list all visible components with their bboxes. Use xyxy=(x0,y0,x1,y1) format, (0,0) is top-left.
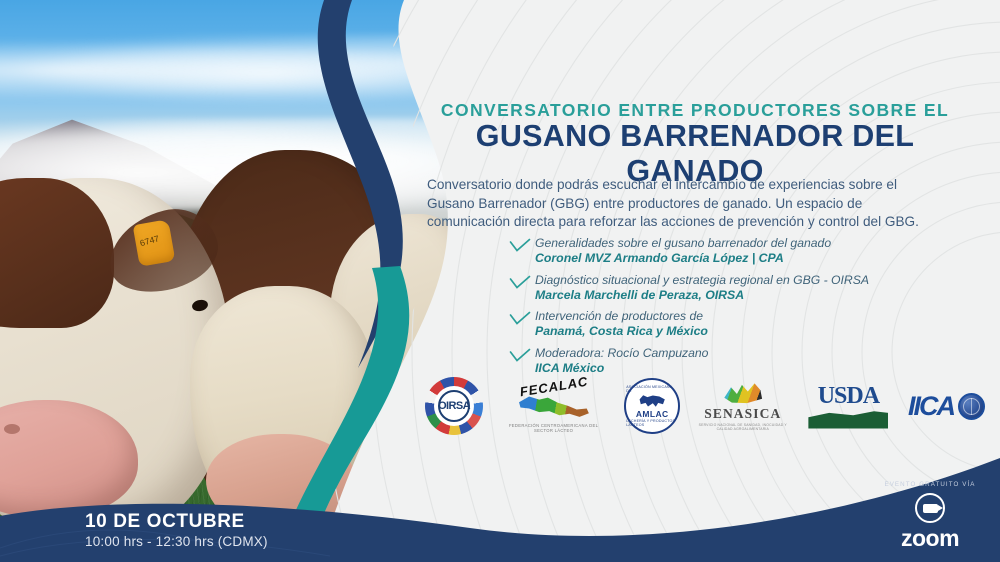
amlac-ring-top: ASOCIACIÓN MEXICANA DE xyxy=(626,385,678,393)
agenda-topic: Generalidades sobre el gusano barrenador… xyxy=(535,236,979,251)
iica-wordmark: IICA xyxy=(908,391,954,422)
agenda-speaker: Coronel MVZ Armando García López | CPA xyxy=(535,251,979,266)
amlac-ring-bottom: LECHERÍA Y PRODUCTOS LÁCTEOS xyxy=(626,419,678,427)
agenda-speaker: Panamá, Costa Rica y México xyxy=(535,324,979,339)
oirsa-label: OIRSA xyxy=(438,400,470,412)
platform-badge: EVENTO GRATUITO VÍA zoom xyxy=(878,481,982,552)
amlac-wordmark: AMLAC xyxy=(636,409,669,419)
fecalac-wordmark: FECALAC xyxy=(499,371,608,403)
fecalac-subtitle: FEDERACIÓN CENTROAMERICANA DEL SECTOR LÁ… xyxy=(500,423,608,433)
logo-senasica: SENASICA SERVICIO NACIONAL DE SANIDAD, I… xyxy=(697,381,789,431)
agenda-topic: Intervención de productores de xyxy=(535,309,979,324)
logo-fecalac: FECALAC FEDERACIÓN CENTROAMERICANA DEL S… xyxy=(500,379,608,433)
event-datetime: 10 DE OCTUBRE 10:00 hrs - 12:30 hrs (CDM… xyxy=(85,511,268,549)
agenda-speaker: Marcela Marchelli de Peraza, OIRSA xyxy=(535,288,979,303)
page-kicker: CONVERSATORIO ENTRE PRODUCTORES SOBRE EL xyxy=(405,100,985,121)
senasica-emblem-icon xyxy=(722,381,764,405)
poster: 6747 xyxy=(0,0,1000,562)
lead-paragraph: Conversatorio donde podrás escuchar el i… xyxy=(427,176,979,232)
lead-line-3: comunicación directa para reforzar las a… xyxy=(427,213,979,232)
event-date: 10 DE OCTUBRE xyxy=(85,511,268,533)
agenda-topic: Diagnóstico situacional y estrategia reg… xyxy=(535,273,979,288)
sponsor-logo-row: OIRSA FECALAC FEDERACIÓN CENTROAMERICANA… xyxy=(425,375,985,437)
zoom-wordmark: zoom xyxy=(878,525,982,552)
platform-kicker: EVENTO GRATUITO VÍA xyxy=(878,481,982,488)
content-column: CONVERSATORIO ENTRE PRODUCTORES SOBRE EL… xyxy=(405,0,1000,562)
senasica-subtitle: SERVICIO NACIONAL DE SANIDAD, INOCUIDAD … xyxy=(697,423,789,431)
check-icon xyxy=(509,236,535,253)
check-icon xyxy=(509,346,535,363)
lead-line-1: Conversatorio donde podrás escuchar el i… xyxy=(427,176,979,195)
usda-wordmark: USDA xyxy=(805,384,891,408)
central-america-map-icon xyxy=(518,395,590,421)
oirsa-emblem: OIRSA xyxy=(425,377,483,435)
agenda-list: Generalidades sobre el gusano barrenador… xyxy=(509,236,979,382)
senasica-wordmark: SENASICA xyxy=(697,406,789,422)
logo-usda: USDA xyxy=(805,384,891,429)
agenda-item: Intervención de productores de Panamá, C… xyxy=(509,309,979,339)
check-icon xyxy=(509,309,535,326)
agenda-item: Diagnóstico situacional y estrategia reg… xyxy=(509,273,979,303)
event-time: 10:00 hrs - 12:30 hrs (CDMX) xyxy=(85,534,268,549)
agenda-item: Generalidades sobre el gusano barrenador… xyxy=(509,236,979,266)
usda-swoosh-icon xyxy=(808,409,888,429)
globe-icon xyxy=(958,393,985,420)
agenda-item: Moderadora: Rocío Campuzano IICA México xyxy=(509,346,979,376)
agenda-topic: Moderadora: Rocío Campuzano xyxy=(535,346,979,361)
logo-iica: IICA xyxy=(908,391,985,422)
check-icon xyxy=(509,273,535,290)
video-camera-icon xyxy=(915,493,945,523)
logo-amlac: ASOCIACIÓN MEXICANA DE AMLAC LECHERÍA Y … xyxy=(624,378,680,434)
lead-line-2: Gusano Barrenador (GBG) entre productore… xyxy=(427,195,979,214)
cow-silhouette-icon xyxy=(637,393,667,409)
logo-oirsa: OIRSA xyxy=(425,377,483,435)
